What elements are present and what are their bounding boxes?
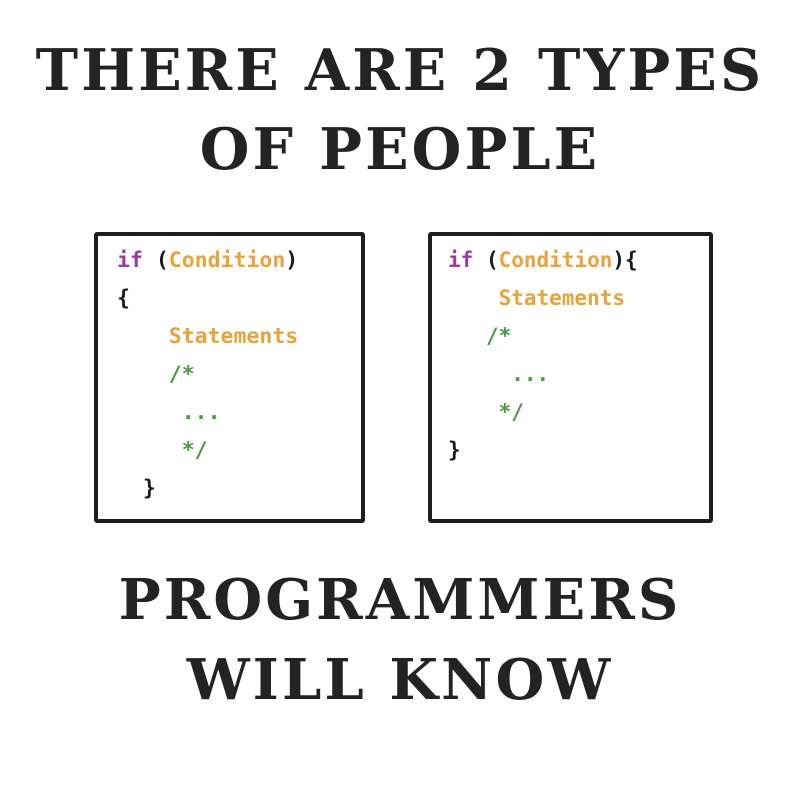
code-token-comment: ... [182, 400, 221, 425]
code-line: Statements [117, 326, 298, 364]
code-line: { [117, 288, 298, 326]
code-panel-allman: if (Condition){ Statements /* ... */ } [94, 232, 365, 523]
top-caption-line-2: OF PEOPLE [0, 121, 800, 178]
code-token-ident: Condition [169, 248, 286, 273]
code-token-keyword: if [117, 248, 156, 273]
code-line: /* [448, 326, 638, 364]
code-line: */ [117, 440, 298, 478]
code-line: } [117, 478, 298, 516]
code-panel-knr: if (Condition){ Statements /* ... */} [428, 232, 713, 523]
code-token-punct: } [143, 476, 156, 501]
code-token-punct: ( [156, 248, 169, 273]
code-token-comment: */ [499, 400, 524, 424]
code-token-comment: /* [486, 324, 511, 348]
code-token-blank [448, 324, 486, 348]
code-token-blank [117, 324, 169, 349]
code-token-comment: /* [169, 362, 195, 387]
code-line: } [448, 440, 638, 478]
meme-canvas: THERE ARE 2 TYPES OF PEOPLE if (Conditio… [0, 0, 800, 800]
code-token-blank [117, 362, 169, 387]
code-line: Statements [448, 288, 638, 326]
code-token-punct: ( [486, 248, 499, 272]
code-token-punct: ){ [612, 248, 637, 272]
code-token-punct: } [448, 438, 461, 462]
code-token-punct: ) [285, 248, 298, 273]
code-token-blank [448, 400, 499, 424]
code-line: /* [117, 364, 298, 402]
code-block-knr: if (Condition){ Statements /* ... */} [432, 236, 638, 478]
code-line: */ [448, 402, 638, 440]
code-line: ... [448, 364, 638, 402]
code-token-blank [117, 438, 182, 463]
code-line: ... [117, 402, 298, 440]
code-token-ident: Statements [499, 286, 625, 310]
code-token-ident: Statements [169, 324, 298, 349]
code-token-comment: */ [182, 438, 208, 463]
code-line: if (Condition) [117, 250, 298, 288]
bottom-caption-line-1: PROGRAMMERS [0, 572, 800, 628]
code-token-blank [448, 286, 499, 310]
code-token-punct: { [117, 286, 130, 311]
code-block-allman: if (Condition){ Statements /* ... */ } [98, 236, 298, 516]
code-token-blank [117, 476, 143, 501]
code-token-blank [117, 400, 182, 425]
bottom-caption-line-2: WILL KNOW [0, 652, 800, 708]
code-token-blank [448, 362, 511, 386]
code-token-keyword: if [448, 248, 486, 272]
code-token-ident: Condition [499, 248, 613, 272]
code-token-comment: ... [511, 362, 549, 386]
code-line: if (Condition){ [448, 250, 638, 288]
top-caption-line-1: THERE ARE 2 TYPES [0, 42, 800, 99]
